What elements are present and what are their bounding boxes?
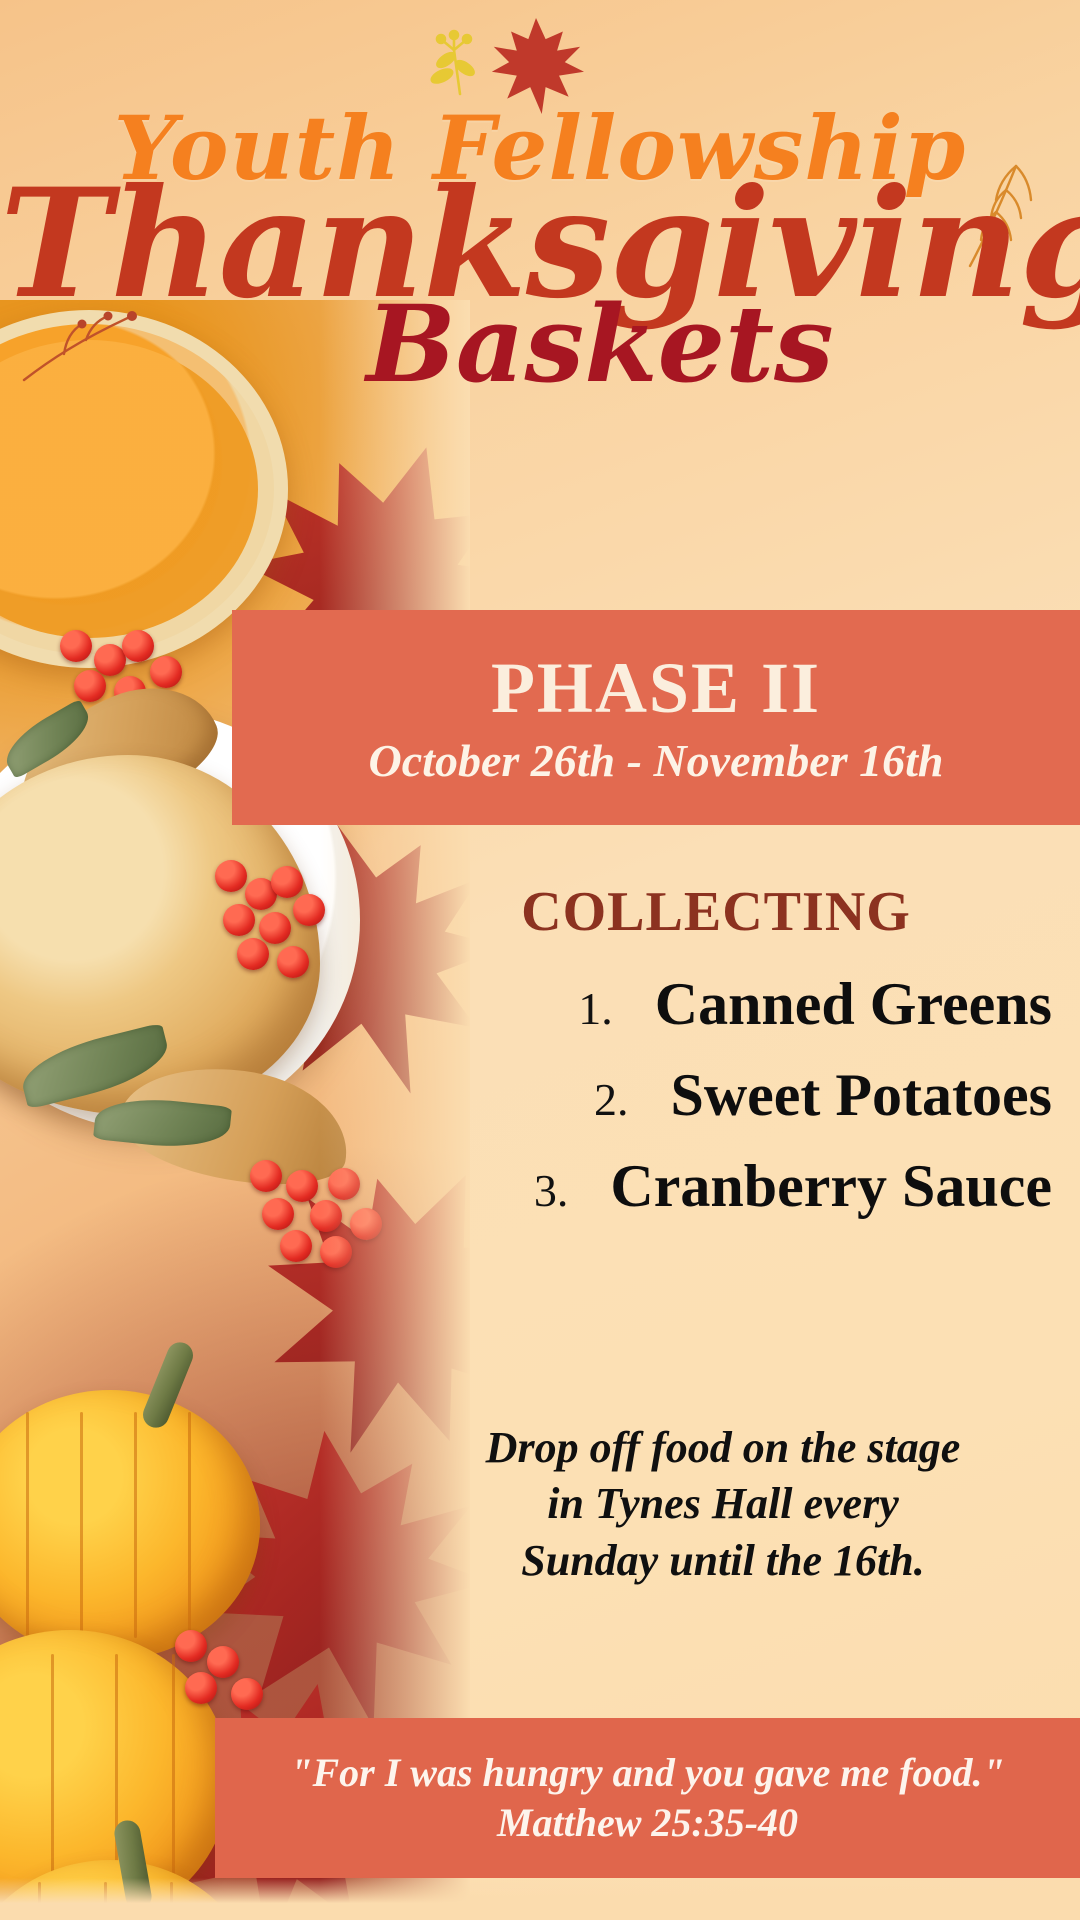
scripture-text: "For I was hungry and you gave me food."… [241,1748,1054,1848]
phase-title: PHASE II [491,652,821,724]
list-item-label: Cranberry Sauce [610,1152,1052,1221]
dropoff-line-1: Drop off food on the stage [400,1420,1046,1476]
poster-canvas: Youth Fellowship Thanksgiving Baskets PH… [0,0,1080,1920]
list-item-number: 2. [572,1073,628,1126]
collecting-section: COLLECTING 1. Canned Greens 2. Sweet Pot… [380,880,1052,1243]
bottom-edge-fade [0,1878,1080,1920]
dropoff-line-2: in Tynes Hall every [400,1476,1046,1532]
list-item-number: 1. [557,982,613,1035]
list-item-label: Canned Greens [655,970,1052,1039]
yellow-wheat-sprig-icon [420,28,490,98]
scripture-banner: "For I was hungry and you gave me food."… [215,1718,1080,1878]
dropoff-instructions: Drop off food on the stage in Tynes Hall… [400,1420,1046,1589]
dropoff-line-3: Sunday until the 16th. [400,1533,1046,1589]
phase-dates: October 26th - November 16th [369,738,944,784]
collecting-heading: COLLECTING [380,880,1052,944]
list-item: 1. Canned Greens [380,970,1052,1039]
phase-banner: PHASE II October 26th - November 16th [232,610,1080,825]
list-item: 2. Sweet Potatoes [380,1061,1052,1130]
list-item: 3. Cranberry Sauce [380,1152,1052,1221]
list-item-number: 3. [512,1164,568,1217]
poster-headline: Youth Fellowship Thanksgiving Baskets [0,108,1080,391]
list-item-label: Sweet Potatoes [670,1061,1052,1130]
